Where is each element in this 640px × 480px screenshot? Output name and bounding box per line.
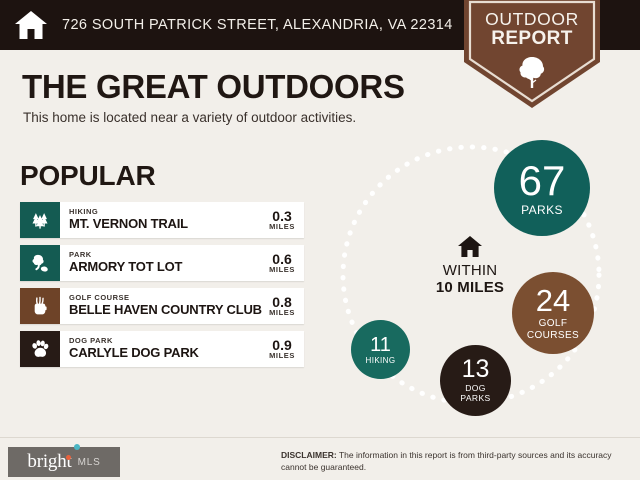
stat-value: 13	[462, 357, 490, 382]
list-item[interactable]: DOG PARK CARLYLE DOG PARK 0.9 MILES	[20, 331, 304, 367]
list-item-name: MT. VERNON TRAIL	[69, 217, 265, 232]
badge-line-2: REPORT	[464, 29, 600, 50]
list-item-text: GOLF COURSE BELLE HAVEN COUNTRY CLUB	[60, 288, 265, 324]
logo-suffix: MLS	[78, 457, 101, 468]
distance-unit: MILES	[269, 352, 295, 360]
stat-label-line-2: PARKS	[460, 394, 490, 404]
logo-tick-icon	[74, 444, 80, 450]
tree-icon	[517, 55, 547, 89]
page-title: THE GREAT OUTDOORS	[22, 68, 405, 106]
stat-label: PARKS	[521, 204, 563, 216]
logo-dot-icon	[66, 455, 71, 460]
list-item-distance: 0.9 MILES	[265, 331, 304, 367]
golf-bag-icon	[20, 288, 60, 324]
list-item-distance: 0.3 MILES	[265, 202, 304, 238]
stat-value: 24	[536, 285, 570, 316]
stat-value: 67	[519, 160, 566, 202]
house-icon	[457, 235, 483, 258]
distance-unit: MILES	[269, 266, 295, 274]
stat-bubble-dog-parks[interactable]: 13 DOG PARKS	[440, 345, 511, 416]
center-line-2: 10 MILES	[405, 280, 535, 297]
outdoor-report-badge: OUTDOOR REPORT	[464, 0, 600, 108]
list-item-text: DOG PARK CARLYLE DOG PARK	[60, 331, 265, 367]
stat-label-line-2: COURSES	[527, 330, 579, 341]
distance-value: 0.8	[272, 295, 291, 310]
center-line-1: WITHIN	[405, 263, 535, 280]
footer-divider	[0, 437, 640, 438]
list-item-name: CARLYLE DOG PARK	[69, 346, 265, 361]
list-item-name: ARMORY TOT LOT	[69, 260, 265, 275]
list-item-text: PARK ARMORY TOT LOT	[60, 245, 265, 281]
stat-value: 11	[370, 335, 391, 355]
stat-bubble-hiking[interactable]: 11 HIKING	[351, 320, 410, 379]
stat-label-line-1: GOLF	[539, 318, 568, 329]
pine-trees-icon	[20, 202, 60, 238]
distance-value: 0.9	[272, 338, 291, 353]
list-item[interactable]: HIKING MT. VERNON TRAIL 0.3 MILES	[20, 202, 304, 238]
house-icon	[14, 10, 48, 40]
list-item[interactable]: PARK ARMORY TOT LOT 0.6 MILES	[20, 245, 304, 281]
header-address: 726 SOUTH PATRICK STREET, ALEXANDRIA, VA…	[62, 17, 453, 33]
paw-print-icon	[20, 331, 60, 367]
distance-unit: MILES	[269, 223, 295, 231]
badge-line-1: OUTDOOR	[464, 10, 600, 29]
disclaimer-label: DISCLAIMER:	[281, 450, 337, 460]
logo-wordmark: bright	[27, 451, 71, 473]
outdoor-stats-diagram: 67 PARKS 24 GOLF COURSES 13 DOG PARKS 11…	[330, 130, 630, 430]
popular-list: HIKING MT. VERNON TRAIL 0.3 MILES PARK A…	[20, 202, 304, 374]
list-item-distance: 0.8 MILES	[265, 288, 304, 324]
park-tree-icon	[20, 245, 60, 281]
diagram-center-label: WITHIN 10 MILES	[405, 235, 535, 297]
disclaimer: DISCLAIMER: The information in this repo…	[281, 450, 621, 473]
list-item-name: BELLE HAVEN COUNTRY CLUB	[69, 303, 265, 318]
distance-value: 0.6	[272, 252, 291, 267]
distance-unit: MILES	[269, 309, 295, 317]
list-item-text: HIKING MT. VERNON TRAIL	[60, 202, 265, 238]
page-subtitle: This home is located near a variety of o…	[23, 110, 356, 125]
distance-value: 0.3	[272, 209, 291, 224]
list-item-distance: 0.6 MILES	[265, 245, 304, 281]
stat-label: HIKING	[366, 357, 396, 365]
stat-bubble-parks[interactable]: 67 PARKS	[494, 140, 590, 236]
badge-text: OUTDOOR REPORT	[464, 10, 600, 49]
popular-heading: POPULAR	[20, 160, 156, 192]
list-item[interactable]: GOLF COURSE BELLE HAVEN COUNTRY CLUB 0.8…	[20, 288, 304, 324]
bright-mls-logo[interactable]: bright MLS	[8, 447, 120, 477]
